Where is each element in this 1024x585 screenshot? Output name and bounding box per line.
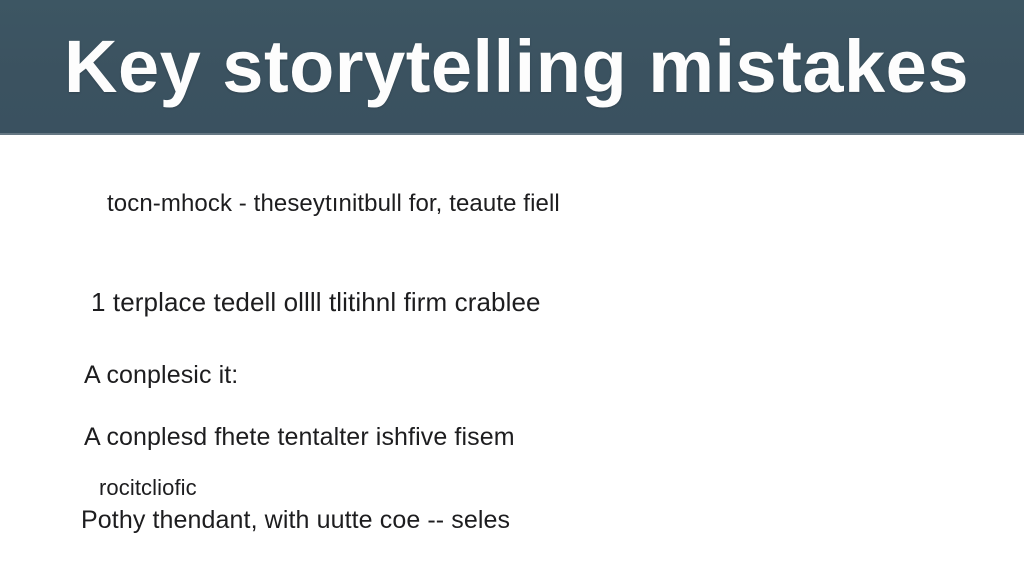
body-line-3: A conplesic it:: [84, 360, 238, 390]
body-line-6: Pothy thendant, with uutte coe -- seles: [81, 505, 510, 535]
body-line-2: 1 terplace tedell ollll tlitihnl firm cr…: [91, 287, 541, 317]
presentation-slide: Key storytelling mistakes tocn-mhock - t…: [0, 0, 1024, 585]
body-line-4: A conplesd fhete tentalter ishfive fisem: [84, 422, 515, 452]
slide-header-band: Key storytelling mistakes: [0, 0, 1024, 135]
body-line-5: rocitcliofic: [99, 473, 197, 503]
slide-title: Key storytelling mistakes: [64, 21, 976, 113]
slide-body: tocn-mhock - theseytınitbull for, teaute…: [0, 135, 1024, 585]
body-line-1: tocn-mhock - theseytınitbull for, teaute…: [107, 189, 560, 219]
